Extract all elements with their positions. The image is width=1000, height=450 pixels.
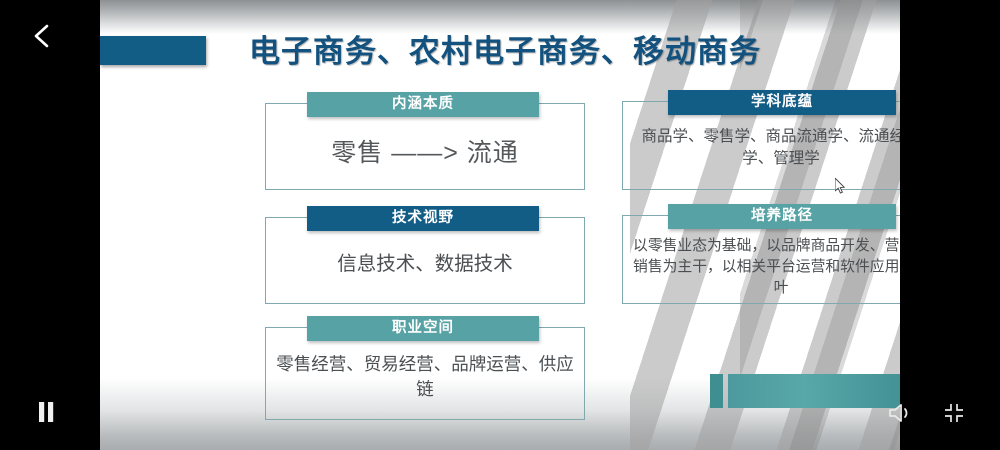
exit-fullscreen-button[interactable] xyxy=(938,398,970,428)
pause-icon xyxy=(36,400,56,424)
card-technology-view[interactable]: 技术视野 信息技术、数据技术 xyxy=(265,206,585,304)
card-body: 信息技术、数据技术 xyxy=(273,251,577,279)
card-discipline-foundation[interactable]: 学科底蕴 商品学、零售学、商品流通学、流通经济学、管理学 xyxy=(622,90,900,190)
footer-accent-square xyxy=(710,374,723,408)
card-body: 零售经营、贸易经营、品牌运营、供应链 xyxy=(273,352,577,402)
card-header: 培养路径 xyxy=(668,204,896,229)
play-pause-button[interactable] xyxy=(26,392,66,432)
card-body: 商品学、零售学、商品流通学、流通经济学、管理学 xyxy=(630,126,900,170)
card-inner-essence[interactable]: 内涵本质 零售 ——> 流通 xyxy=(265,92,585,190)
title-accent-block xyxy=(100,36,206,65)
presentation-slide[interactable]: 电子商务、农村电子商务、移动商务 内涵本质 零售 ——> 流通 技术视野 信息技… xyxy=(100,0,900,450)
card-body: 以零售业态为基础，以品牌商品开发、营销和销售为主干，以相关平台运营和软件应用为枝… xyxy=(630,236,900,299)
volume-button[interactable] xyxy=(884,398,918,428)
card-body: 零售 ——> 流通 xyxy=(273,136,577,172)
card-header: 技术视野 xyxy=(307,206,539,231)
back-button[interactable] xyxy=(22,16,62,56)
video-player: 电子商务、农村电子商务、移动商务 内涵本质 零售 ——> 流通 技术视野 信息技… xyxy=(0,0,1000,450)
exit-fullscreen-icon xyxy=(943,402,965,424)
card-header: 职业空间 xyxy=(307,316,539,341)
card-header: 学科底蕴 xyxy=(668,90,896,115)
slide-title: 电子商务、农村电子商务、移动商务 xyxy=(225,26,785,71)
chevron-left-icon xyxy=(31,22,53,50)
footer-accent-bar xyxy=(728,374,900,408)
card-header: 内涵本质 xyxy=(307,92,539,117)
card-training-path[interactable]: 培养路径 以零售业态为基础，以品牌商品开发、营销和销售为主干，以相关平台运营和软… xyxy=(622,204,900,304)
speaker-icon xyxy=(888,402,914,424)
card-career-space[interactable]: 职业空间 零售经营、贸易经营、品牌运营、供应链 xyxy=(265,316,585,420)
